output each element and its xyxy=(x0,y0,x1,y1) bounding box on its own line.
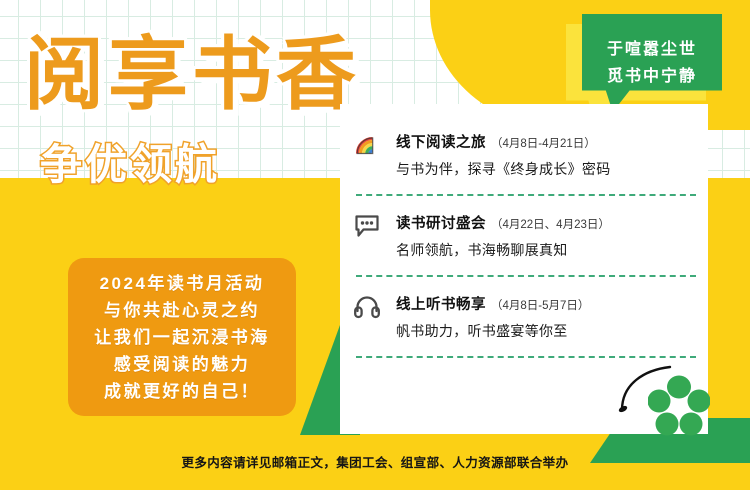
activity-title: 读书研讨盛会 xyxy=(396,212,486,233)
divider xyxy=(356,275,696,277)
divider xyxy=(356,356,696,358)
list-item[interactable]: 线上听书畅享 （4月8日-5月7日） 帆书助力，听书盛宴等你至 xyxy=(354,290,698,341)
page-subtitle: 争优领航 xyxy=(40,140,220,190)
activity-date: （4月22日、4月23日） xyxy=(491,216,610,232)
activity-list: 线下阅读之旅 （4月8日-4月21日） 与书为伴，探寻《终身成长》密码 xyxy=(340,104,708,358)
slogan-line: 2024年读书月活动 xyxy=(100,270,265,297)
slogan-line: 让我们一起沉浸书海 xyxy=(94,324,270,351)
speech-bubble-text: 于喧嚣尘世 觅书中宁静 xyxy=(586,36,718,90)
activity-date: （4月8日-4月21日） xyxy=(491,135,596,151)
speech-bubble-line-1: 于喧嚣尘世 xyxy=(586,36,718,63)
speech-bubble-line-2: 觅书中宁静 xyxy=(586,63,718,90)
rainbow-icon xyxy=(354,131,384,160)
list-item[interactable]: 读书研讨盛会 （4月22日、4月23日） 名师领航，书海畅聊展真知 xyxy=(354,209,698,260)
list-item[interactable]: 线下阅读之旅 （4月8日-4月21日） 与书为伴，探寻《终身成长》密码 xyxy=(354,128,698,179)
activity-date: （4月8日-5月7日） xyxy=(491,297,589,313)
activity-title: 线下阅读之旅 xyxy=(396,131,486,152)
slogan-line: 感受阅读的魅力 xyxy=(114,351,251,378)
activity-description: 名师领航，书海畅聊展真知 xyxy=(396,240,698,260)
activity-text: 线下阅读之旅 （4月8日-4月21日） 与书为伴，探寻《终身成长》密码 xyxy=(396,131,698,179)
activity-title: 线上听书畅享 xyxy=(396,293,486,314)
divider xyxy=(356,194,696,196)
footer-note: 更多内容请详见邮箱正文，集团工会、组宣部、人力资源部联合举办 xyxy=(0,452,750,471)
activity-description: 与书为伴，探寻《终身成长》密码 xyxy=(396,159,698,179)
activity-description: 帆书助力，听书盛宴等你至 xyxy=(396,321,698,341)
flower-icon xyxy=(648,375,710,437)
slogan-line: 成就更好的自己！ xyxy=(104,378,260,405)
chat-bubble-icon xyxy=(354,212,384,243)
activity-text: 线上听书畅享 （4月8日-5月7日） 帆书助力，听书盛宴等你至 xyxy=(396,293,698,341)
slogan-line: 与你共赴心灵之约 xyxy=(104,297,260,324)
poster-canvas: 阅享书香 争优领航 2024年读书月活动 与你共赴心灵之约 让我们一起沉浸书海 … xyxy=(0,0,750,490)
activity-text: 读书研讨盛会 （4月22日、4月23日） 名师领航，书海畅聊展真知 xyxy=(396,212,698,260)
headphones-icon xyxy=(354,293,384,324)
slogan-card: 2024年读书月活动 与你共赴心灵之约 让我们一起沉浸书海 感受阅读的魅力 成就… xyxy=(68,258,296,416)
